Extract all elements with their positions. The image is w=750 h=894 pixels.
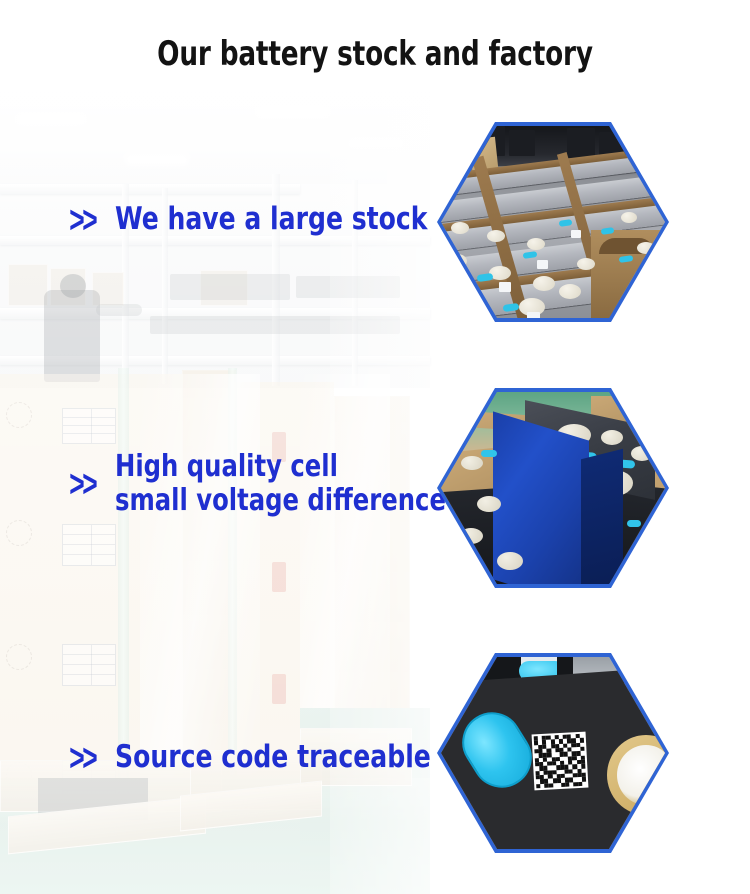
cell-terminal <box>451 222 469 234</box>
cell-label <box>571 230 581 238</box>
promo-banner: Our battery stock and factory >> We have… <box>0 0 750 894</box>
cell-label <box>499 282 511 292</box>
black-crate <box>445 128 471 156</box>
blue-cell-scene <box>441 392 665 584</box>
chevron-right-icon: >> <box>69 738 95 776</box>
cell-terminal <box>461 456 483 470</box>
black-crate <box>509 130 535 156</box>
hex-image-stock <box>437 122 669 322</box>
qr-code-label <box>532 732 589 791</box>
cell-terminal <box>497 552 523 570</box>
cell-terminal <box>477 496 501 512</box>
cell-terminal <box>577 258 595 270</box>
feature-label-line2: small voltage difference <box>115 484 446 518</box>
black-crate <box>631 130 661 158</box>
feature-high-quality-cell: >> High quality cell small voltage diffe… <box>66 450 482 517</box>
cell-top-closeup-scene <box>441 657 665 849</box>
feature-label-line1: High quality cell <box>115 450 446 484</box>
cell-terminal <box>533 276 555 291</box>
cell-terminal <box>601 430 623 445</box>
chevron-right-icon: >> <box>69 200 95 238</box>
cell-vent <box>627 520 641 527</box>
feature-label: Source code traceable <box>115 740 431 775</box>
warehouse-cells-scene <box>441 126 665 318</box>
feature-source-code-traceable: >> Source code traceable <box>66 740 465 775</box>
chevron-right-icon: >> <box>69 465 95 503</box>
cell-terminal <box>559 284 581 299</box>
feature-large-stock: >> We have a large stock <box>66 202 462 237</box>
black-crate <box>567 128 595 158</box>
hex-photo-qr <box>441 657 665 849</box>
hex-photo-stock <box>441 126 665 318</box>
hex-photo-cell <box>441 392 665 584</box>
hex-image-cell <box>437 388 669 588</box>
cell-vent <box>481 450 497 457</box>
cell-label <box>527 312 540 318</box>
cell-label <box>537 260 548 269</box>
cell-terminal <box>487 230 505 242</box>
cell-terminal <box>527 238 545 250</box>
feature-label: We have a large stock <box>115 202 427 237</box>
cell-terminal <box>621 212 637 223</box>
hex-image-qr <box>437 653 669 853</box>
cell-blue-side <box>581 449 623 584</box>
page-title: Our battery stock and factory <box>53 34 698 74</box>
